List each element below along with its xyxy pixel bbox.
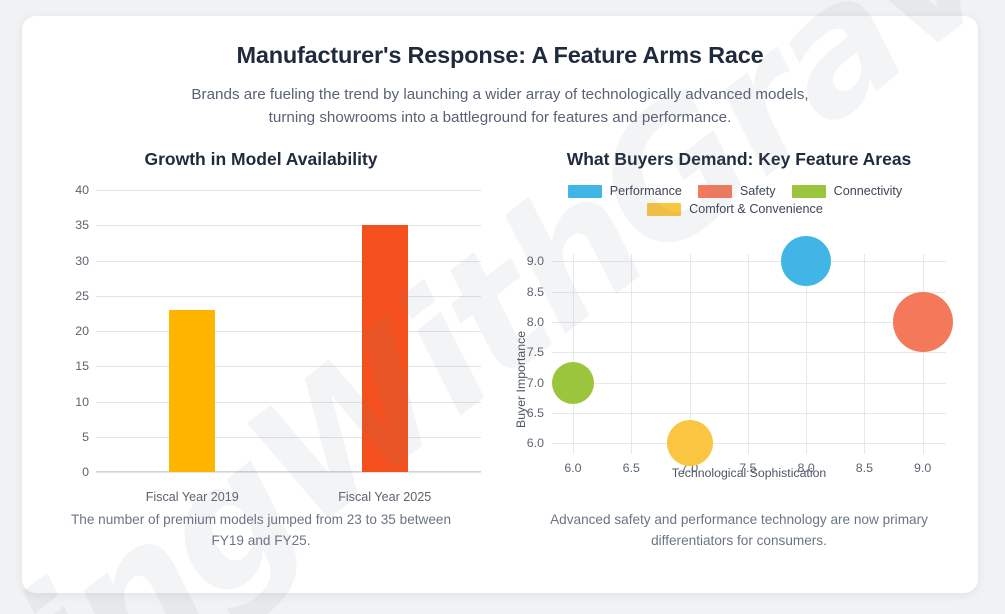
bubble-chart-y-tick-label: 8.5 — [527, 285, 544, 299]
bubble-data-point[interactable] — [552, 362, 594, 404]
bubble-chart-y-tick-label: 6.5 — [527, 406, 544, 420]
bar-chart-gridline — [96, 296, 481, 297]
bar-chart-x-axis-line — [96, 471, 481, 472]
bar-chart-y-tick-label: 10 — [75, 395, 89, 409]
bubble-data-point[interactable] — [667, 420, 713, 466]
legend-swatch-icon — [698, 185, 732, 198]
bubble-data-point[interactable] — [893, 292, 953, 352]
legend-label: Safety — [740, 184, 776, 198]
bar-chart-x-tick-label: Fiscal Year 2025 — [338, 490, 431, 504]
bar-chart-gridline — [96, 225, 481, 226]
bar-chart-y-tick-label: 5 — [82, 430, 89, 444]
bubble-chart-gridline-horizontal — [552, 443, 946, 444]
panels-container: Growth in Model Availability 05101520253… — [22, 149, 978, 551]
bar-chart-title: Growth in Model Availability — [22, 149, 500, 170]
infographic-card: Manufacturer's Response: A Feature Arms … — [22, 16, 978, 593]
bubble-chart-y-tick-label: 6.0 — [527, 436, 544, 450]
legend-label: Connectivity — [834, 184, 903, 198]
page-title: Manufacturer's Response: A Feature Arms … — [22, 42, 978, 69]
bubble-chart-legend: PerformanceSafetyConnectivityComfort & C… — [535, 180, 935, 216]
bar-chart-x-tick-label: Fiscal Year 2019 — [146, 490, 239, 504]
page-root: Manufacturer's Response: A Feature Arms … — [0, 0, 1005, 614]
bubble-chart-gridline-vertical — [573, 254, 574, 454]
bar-chart-bar[interactable] — [169, 310, 215, 472]
bar-chart-gridline — [96, 437, 481, 438]
panel-what-buyers-demand: What Buyers Demand: Key Feature Areas Pe… — [500, 149, 978, 551]
legend-swatch-icon — [792, 185, 826, 198]
bubble-chart-gridline-horizontal — [552, 292, 946, 293]
bubble-chart-gridline-horizontal — [552, 383, 946, 384]
bar-chart-y-tick-label: 0 — [82, 465, 89, 479]
bar-chart-y-tick-label: 25 — [75, 289, 89, 303]
bubble-chart-y-tick-label: 8.0 — [527, 315, 544, 329]
bar-chart-gridline — [96, 402, 481, 403]
bubble-chart-y-tick-label: 9.0 — [527, 254, 544, 268]
bar-chart-gridline — [96, 190, 481, 191]
bar-chart-gridline — [96, 366, 481, 367]
bubble-chart-gridline-horizontal — [552, 322, 946, 323]
legend-label: Comfort & Convenience — [689, 202, 823, 216]
bubble-chart-plot-area: 6.06.57.07.58.08.59.06.06.57.07.58.08.59… — [552, 254, 946, 454]
bubble-chart-y-tick-label: 7.0 — [527, 376, 544, 390]
bubble-chart-gridline-vertical — [923, 254, 924, 454]
page-subtitle: Brands are fueling the trend by launchin… — [175, 83, 825, 129]
bubble-chart-gridline-horizontal — [552, 352, 946, 353]
bar-chart-gridline — [96, 331, 481, 332]
legend-item[interactable]: Safety — [698, 184, 776, 198]
legend-swatch-icon — [647, 203, 681, 216]
bubble-chart-gridline-horizontal — [552, 413, 946, 414]
bar-chart: 0510152025303540Fiscal Year 2019Fiscal Y… — [34, 180, 489, 500]
bubble-chart-y-axis-title: Buyer Importance — [514, 331, 528, 428]
legend-label: Performance — [610, 184, 682, 198]
legend-item[interactable]: Comfort & Convenience — [647, 202, 823, 216]
bar-chart-y-tick-label: 40 — [75, 183, 89, 197]
bar-chart-y-tick-label: 35 — [75, 218, 89, 232]
bubble-chart-caption: Advanced safety and performance technolo… — [500, 510, 978, 551]
bubble-chart-gridline-horizontal — [552, 261, 946, 262]
bubble-data-point[interactable] — [781, 236, 831, 286]
bar-chart-gridline — [96, 472, 481, 473]
panel-growth-in-model-availability: Growth in Model Availability 05101520253… — [22, 149, 500, 551]
bubble-chart-gridline-vertical — [748, 254, 749, 454]
legend-item[interactable]: Performance — [568, 184, 682, 198]
bar-chart-y-tick-label: 15 — [75, 359, 89, 373]
bubble-chart-gridline-vertical — [864, 254, 865, 454]
bar-chart-gridline — [96, 261, 481, 262]
bubble-chart-y-tick-label: 7.5 — [527, 345, 544, 359]
bar-chart-y-tick-label: 20 — [75, 324, 89, 338]
bar-chart-plot-area: 0510152025303540Fiscal Year 2019Fiscal Y… — [96, 190, 481, 472]
bar-chart-y-tick-label: 30 — [75, 254, 89, 268]
legend-swatch-icon — [568, 185, 602, 198]
bubble-chart: PerformanceSafetyConnectivityComfort & C… — [500, 180, 970, 500]
bubble-chart-title: What Buyers Demand: Key Feature Areas — [500, 149, 978, 170]
bubble-chart-gridline-vertical — [631, 254, 632, 454]
bubble-chart-x-axis-title: Technological Sophistication — [552, 466, 946, 480]
bar-chart-bar[interactable] — [362, 225, 408, 472]
bar-chart-caption: The number of premium models jumped from… — [22, 510, 500, 551]
bubble-chart-grid: 6.06.57.07.58.08.59.06.06.57.07.58.08.59… — [552, 254, 946, 454]
legend-item[interactable]: Connectivity — [792, 184, 903, 198]
